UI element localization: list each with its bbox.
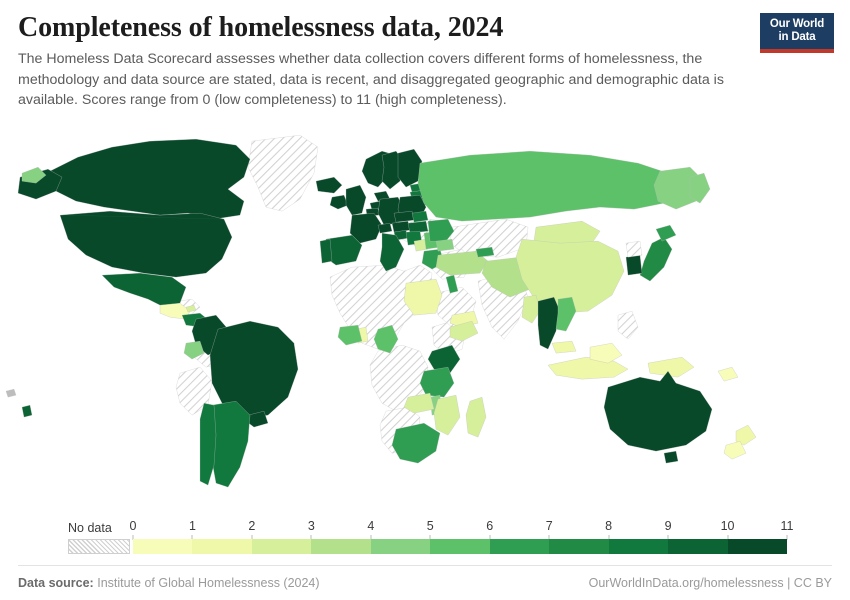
legend-bin-7[interactable] [549, 539, 608, 554]
country-south-korea[interactable] [626, 255, 642, 275]
legend-bin-3[interactable] [311, 539, 370, 554]
owid-logo[interactable]: Our World in Data [760, 13, 834, 53]
country-iceland[interactable] [316, 177, 342, 193]
legend-tick-0: 0 [130, 519, 137, 533]
legend-tick-labels: 01234567891011 [133, 509, 787, 539]
map-legend: No data 01234567891011 [0, 509, 850, 565]
country-slovakia[interactable] [412, 211, 428, 222]
data-source: Data source: Institute of Global Homeles… [18, 576, 320, 590]
legend-tick-2: 2 [248, 519, 255, 533]
legend-tick-6: 6 [486, 519, 493, 533]
legend-bin-0[interactable] [133, 539, 192, 554]
legend-tick-10: 10 [721, 519, 735, 533]
chart-footer: Data source: Institute of Global Homeles… [18, 565, 832, 600]
country-australia[interactable] [604, 371, 712, 451]
country-tanzania[interactable] [420, 367, 454, 397]
legend-tick-4: 4 [367, 519, 374, 533]
country-indonesia[interactable] [548, 357, 628, 379]
data-source-label: Data source: [18, 576, 94, 590]
country-chile[interactable] [200, 403, 216, 485]
country-malaysia[interactable] [552, 341, 576, 353]
legend-bin-1[interactable] [192, 539, 251, 554]
legend-bin-9[interactable] [668, 539, 727, 554]
attribution-link[interactable]: OurWorldInData.org/homelessness | CC BY [589, 576, 832, 590]
world-map[interactable] [0, 111, 850, 509]
country-austria[interactable] [392, 221, 410, 232]
legend-tick-1: 1 [189, 519, 196, 533]
legend-bin-5[interactable] [430, 539, 489, 554]
legend-tick-9: 9 [665, 519, 672, 533]
owid-logo-line1: Our World [760, 18, 834, 31]
country-tasmania[interactable] [664, 451, 678, 463]
country-portugal[interactable] [320, 239, 332, 263]
country-madagascar[interactable] [466, 397, 486, 437]
country-switzerland[interactable] [378, 223, 392, 233]
legend-bin-2[interactable] [252, 539, 311, 554]
chart-header: Completeness of homelessness data, 2024 … [0, 0, 850, 111]
legend-color-ramp[interactable] [133, 539, 787, 554]
legend-no-data-swatch[interactable] [68, 539, 130, 554]
country-japan[interactable] [640, 237, 672, 281]
country-greenland[interactable] [248, 135, 318, 211]
country-nigeria[interactable] [338, 325, 362, 345]
chart-subtitle: The Homeless Data Scorecard assesses whe… [18, 49, 744, 110]
legend-tick-8: 8 [605, 519, 612, 533]
legend-tick-7: 7 [546, 519, 553, 533]
country-kamchatka[interactable] [690, 173, 710, 203]
owid-logo-line2: in Data [760, 31, 834, 44]
country-north-korea[interactable] [626, 241, 642, 257]
country-united-states[interactable] [60, 211, 232, 277]
country-papua-new-guinea[interactable] [648, 357, 694, 377]
country-ireland[interactable] [330, 195, 348, 209]
country-south-africa[interactable] [392, 423, 440, 463]
legend-tick-5: 5 [427, 519, 434, 533]
map-country-shapes[interactable] [6, 135, 756, 487]
legend-bin-4[interactable] [371, 539, 430, 554]
country-russia[interactable] [418, 151, 678, 221]
country-canada[interactable] [46, 139, 250, 219]
legend-no-data-label: No data [68, 521, 112, 535]
country-borneo[interactable] [590, 343, 622, 363]
legend-bin-8[interactable] [609, 539, 668, 554]
world-map-svg[interactable] [0, 111, 850, 509]
country-bulgaria[interactable] [436, 239, 454, 251]
country-romania[interactable] [428, 219, 454, 241]
chart-root: Completeness of homelessness data, 2024 … [0, 0, 850, 600]
country-hokkaido[interactable] [656, 225, 676, 241]
island-marquesas[interactable] [22, 405, 32, 417]
page-title: Completeness of homelessness data, 2024 [18, 12, 738, 43]
legend-bin-10[interactable] [728, 539, 787, 554]
country-mexico[interactable] [102, 273, 186, 307]
island-small-west[interactable] [6, 389, 16, 397]
country-pacific-islands[interactable] [718, 367, 738, 381]
legend-bin-6[interactable] [490, 539, 549, 554]
legend-tick-11: 11 [781, 519, 794, 533]
data-source-value: Institute of Global Homelessness (2024) [97, 576, 319, 590]
legend-tick-3: 3 [308, 519, 315, 533]
country-czechia[interactable] [394, 211, 414, 222]
country-mozambique[interactable] [434, 395, 460, 435]
country-vietnam[interactable] [556, 297, 576, 331]
country-philippines[interactable] [618, 311, 638, 339]
country-united-kingdom[interactable] [346, 185, 366, 215]
